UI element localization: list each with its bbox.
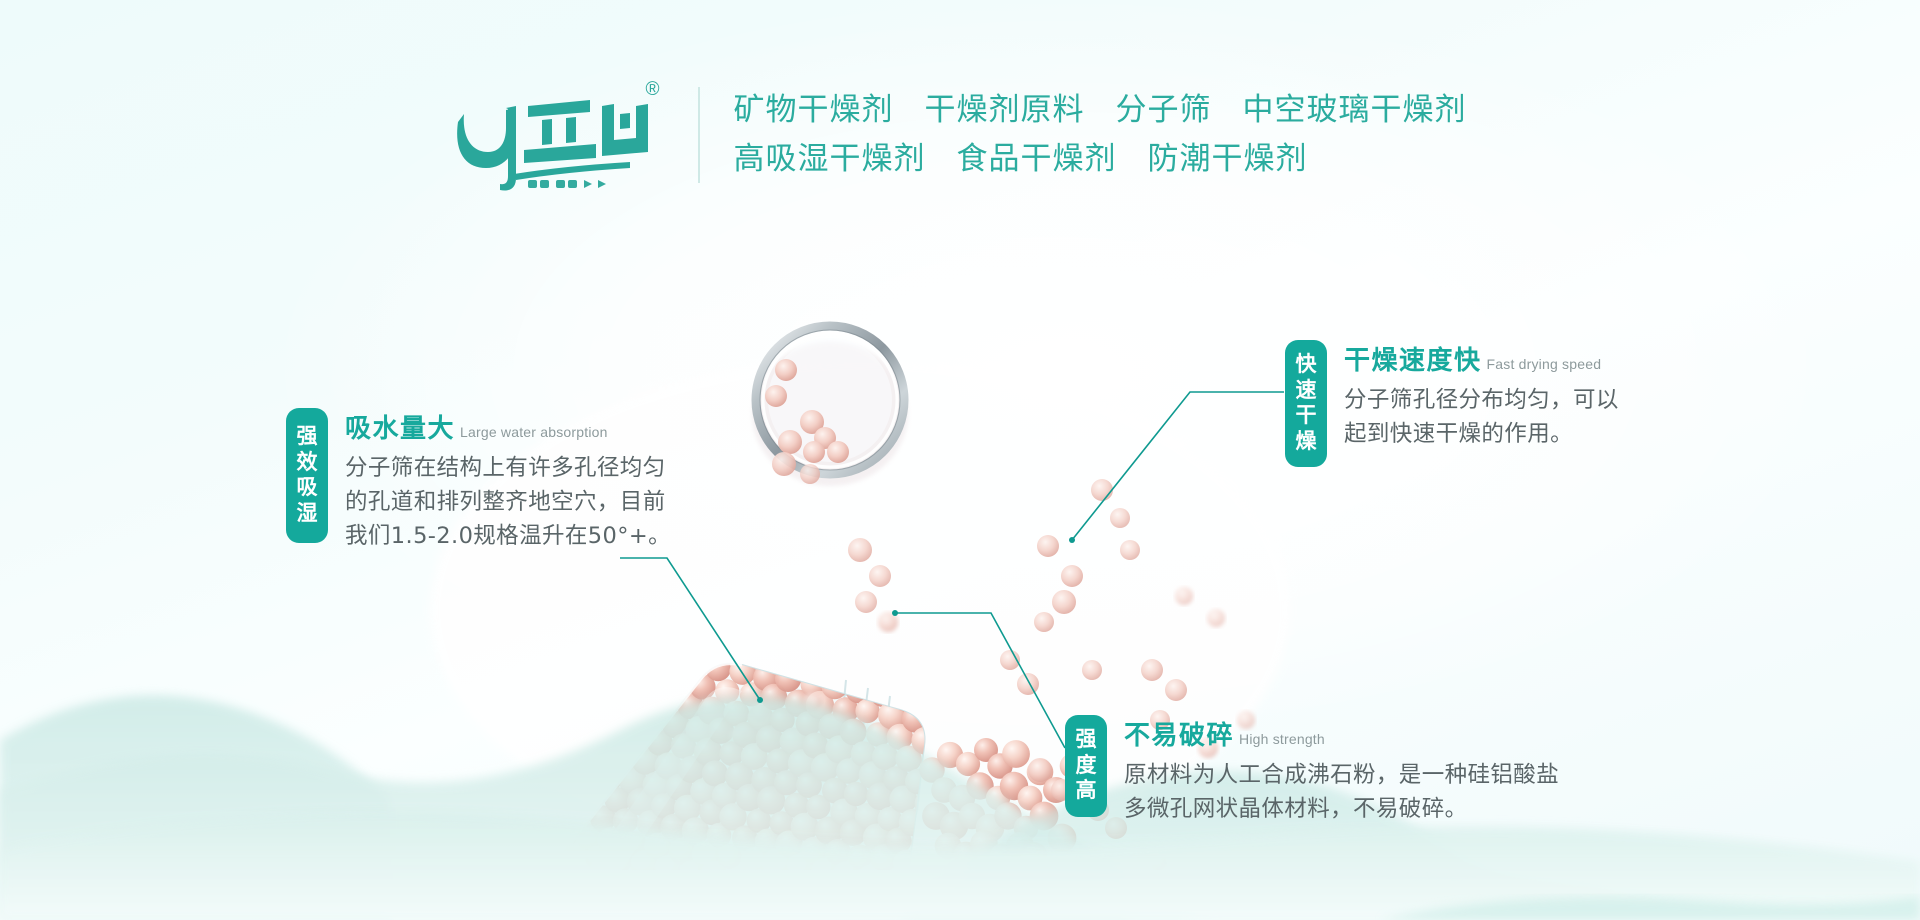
bead: [1052, 590, 1076, 614]
callout-title: 吸水量大: [345, 408, 455, 445]
nav-item-moisture-proof-desiccant[interactable]: 防潮干燥剂: [1148, 140, 1308, 180]
callout-subtitle: High strength: [1239, 731, 1325, 747]
callout-subtitle: Large water absorption: [460, 424, 608, 440]
bead: [1175, 587, 1193, 605]
badge-char: 度: [1076, 753, 1097, 779]
callout-description: 分子筛孔径分布均匀，可以 起到快速干燥的作用。: [1344, 383, 1619, 451]
badge-char: 燥: [1296, 429, 1317, 455]
callout-large-water-absorption: 强 效 吸 湿 吸水量大 Large water absorption 分子筛在…: [286, 408, 671, 554]
bottle-cap-ring: [752, 326, 908, 486]
bead: [1061, 565, 1083, 587]
nav-item-insulating-glass-desiccant[interactable]: 中空玻璃干燥剂: [1243, 91, 1467, 131]
nav-item-mineral-desiccant[interactable]: 矿物干燥剂: [734, 91, 894, 131]
callout-heading: 不易破碎 High strength: [1124, 715, 1559, 752]
header-divider: [698, 87, 700, 183]
nav-item-molecular-sieve[interactable]: 分子筛: [1116, 91, 1212, 131]
bead: [855, 591, 877, 613]
brand-logo-mark: [454, 76, 664, 194]
badge-char: 湿: [297, 501, 318, 527]
callout-heading: 吸水量大 Large water absorption: [345, 408, 671, 445]
badge-fast-drying: 快 速 干 燥: [1285, 340, 1327, 467]
badge-high-strength: 强 度 高: [1065, 715, 1107, 817]
badge-char: 吸: [297, 475, 318, 501]
keyword-nav-row-2: 高吸湿干燥剂 食品干燥剂 防潮干燥剂: [734, 140, 1467, 180]
bead: [1120, 540, 1140, 560]
callout-heading: 干燥速度快 Fast drying speed: [1344, 340, 1619, 377]
callout-fast-drying-speed: 快 速 干 燥 干燥速度快 Fast drying speed 分子筛孔径分布均…: [1285, 340, 1619, 467]
banner-stage: ® 矿物干燥剂 干燥剂原料 分子筛 中空玻璃干燥剂 高吸湿干燥剂 食品干燥剂 防…: [0, 0, 1920, 920]
registered-trademark-icon: ®: [646, 80, 660, 99]
badge-char: 快: [1296, 352, 1317, 378]
bead: [1037, 535, 1059, 557]
badge-char: 强: [297, 424, 318, 450]
bead: [1110, 508, 1130, 528]
callout-title: 干燥速度快: [1344, 340, 1482, 377]
site-header: ® 矿物干燥剂 干燥剂原料 分子筛 中空玻璃干燥剂 高吸湿干燥剂 食品干燥剂 防…: [0, 0, 1920, 270]
nav-item-high-moisture-desiccant[interactable]: 高吸湿干燥剂: [734, 140, 926, 180]
bead: [1091, 479, 1113, 501]
badge-char: 高: [1076, 778, 1097, 804]
badge-char: 速: [1296, 378, 1317, 404]
badge-char: 效: [297, 450, 318, 476]
brand-logo[interactable]: ®: [454, 76, 664, 194]
nav-item-desiccant-raw-material[interactable]: 干燥剂原料: [925, 91, 1085, 131]
bead: [869, 565, 891, 587]
callout-subtitle: Fast drying speed: [1487, 356, 1602, 372]
callout-description: 分子筛在结构上有许多孔径均匀 的孔道和排列整齐地空穴，目前 我们1.5-2.0规…: [345, 451, 671, 554]
callout-title: 不易破碎: [1124, 715, 1234, 752]
nav-item-food-desiccant[interactable]: 食品干燥剂: [957, 140, 1117, 180]
callout-body: 不易破碎 High strength 原材料为人工合成沸石粉，是一种硅铝酸盐 多…: [1107, 715, 1559, 826]
badge-char: 强: [1076, 727, 1097, 753]
bead: [848, 538, 872, 562]
callout-body: 吸水量大 Large water absorption 分子筛在结构上有许多孔径…: [328, 408, 671, 554]
callout-description: 原材料为人工合成沸石粉，是一种硅铝酸盐 多微孔网状晶体材料，不易破碎。: [1124, 758, 1559, 826]
badge-strong-moisture-absorption: 强 效 吸 湿: [286, 408, 328, 543]
keyword-nav: 矿物干燥剂 干燥剂原料 分子筛 中空玻璃干燥剂 高吸湿干燥剂 食品干燥剂 防潮干…: [734, 91, 1467, 179]
callout-body: 干燥速度快 Fast drying speed 分子筛孔径分布均匀，可以 起到快…: [1327, 340, 1619, 451]
decorative-waves: [0, 620, 1920, 920]
badge-char: 干: [1296, 403, 1317, 429]
keyword-nav-row-1: 矿物干燥剂 干燥剂原料 分子筛 中空玻璃干燥剂: [734, 91, 1467, 131]
callout-high-strength: 强 度 高 不易破碎 High strength 原材料为人工合成沸石粉，是一种…: [1065, 715, 1559, 826]
